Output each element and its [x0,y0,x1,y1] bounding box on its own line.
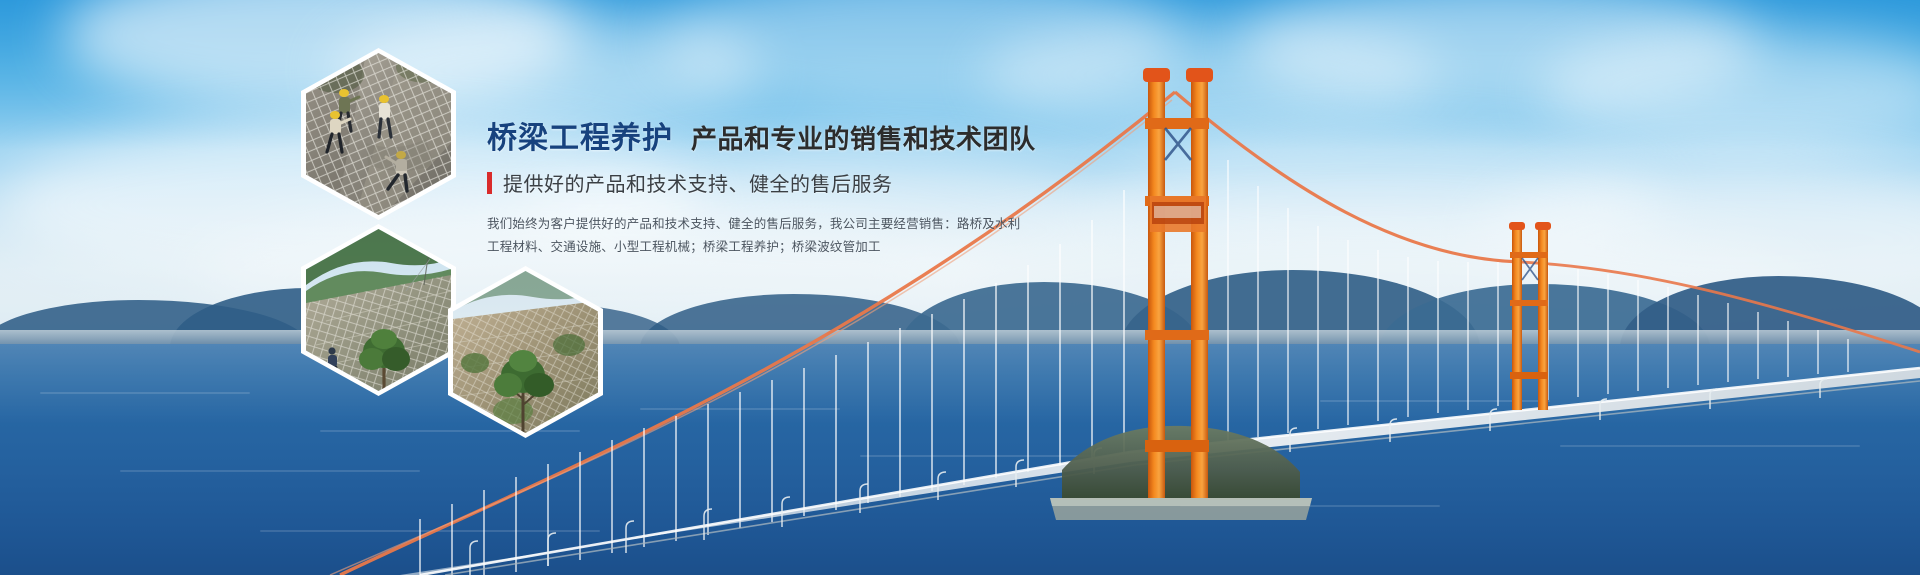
hero-banner: 桥梁工程养护产品和专业的销售和技术团队 提供好的产品和技术支持、健全的售后服务 … [0,0,1920,575]
banner-subtitle-row: 提供好的产品和技术支持、健全的售后服务 [487,168,1107,197]
bridge-tower-secondary [1509,222,1551,410]
banner-body-text: 我们始终为客户提供好的产品和技术支持、健全的售后服务，我公司主要经营销售：路桥及… [487,213,847,259]
banner-headline: 桥梁工程养护产品和专业的销售和技术团队 [487,124,1107,154]
headline-secondary: 产品和专业的销售和技术团队 [691,124,1036,154]
headline-primary: 桥梁工程养护 [487,122,673,155]
banner-subtitle: 提供好的产品和技术支持、健全的售后服务 [503,168,893,197]
accent-bar [487,172,492,194]
body-line-2: 工程材料、交通设施、小型工程机械；桥梁工程养护；桥梁波纹管加工 [487,236,847,259]
banner-text-block: 桥梁工程养护产品和专业的销售和技术团队 提供好的产品和技术支持、健全的售后服务 … [487,124,1107,259]
body-line-1: 我们始终为客户提供好的产品和技术支持、健全的售后服务，我公司主要经营销售：路桥及… [487,213,847,236]
suspension-bridge-graphic [0,0,1920,575]
